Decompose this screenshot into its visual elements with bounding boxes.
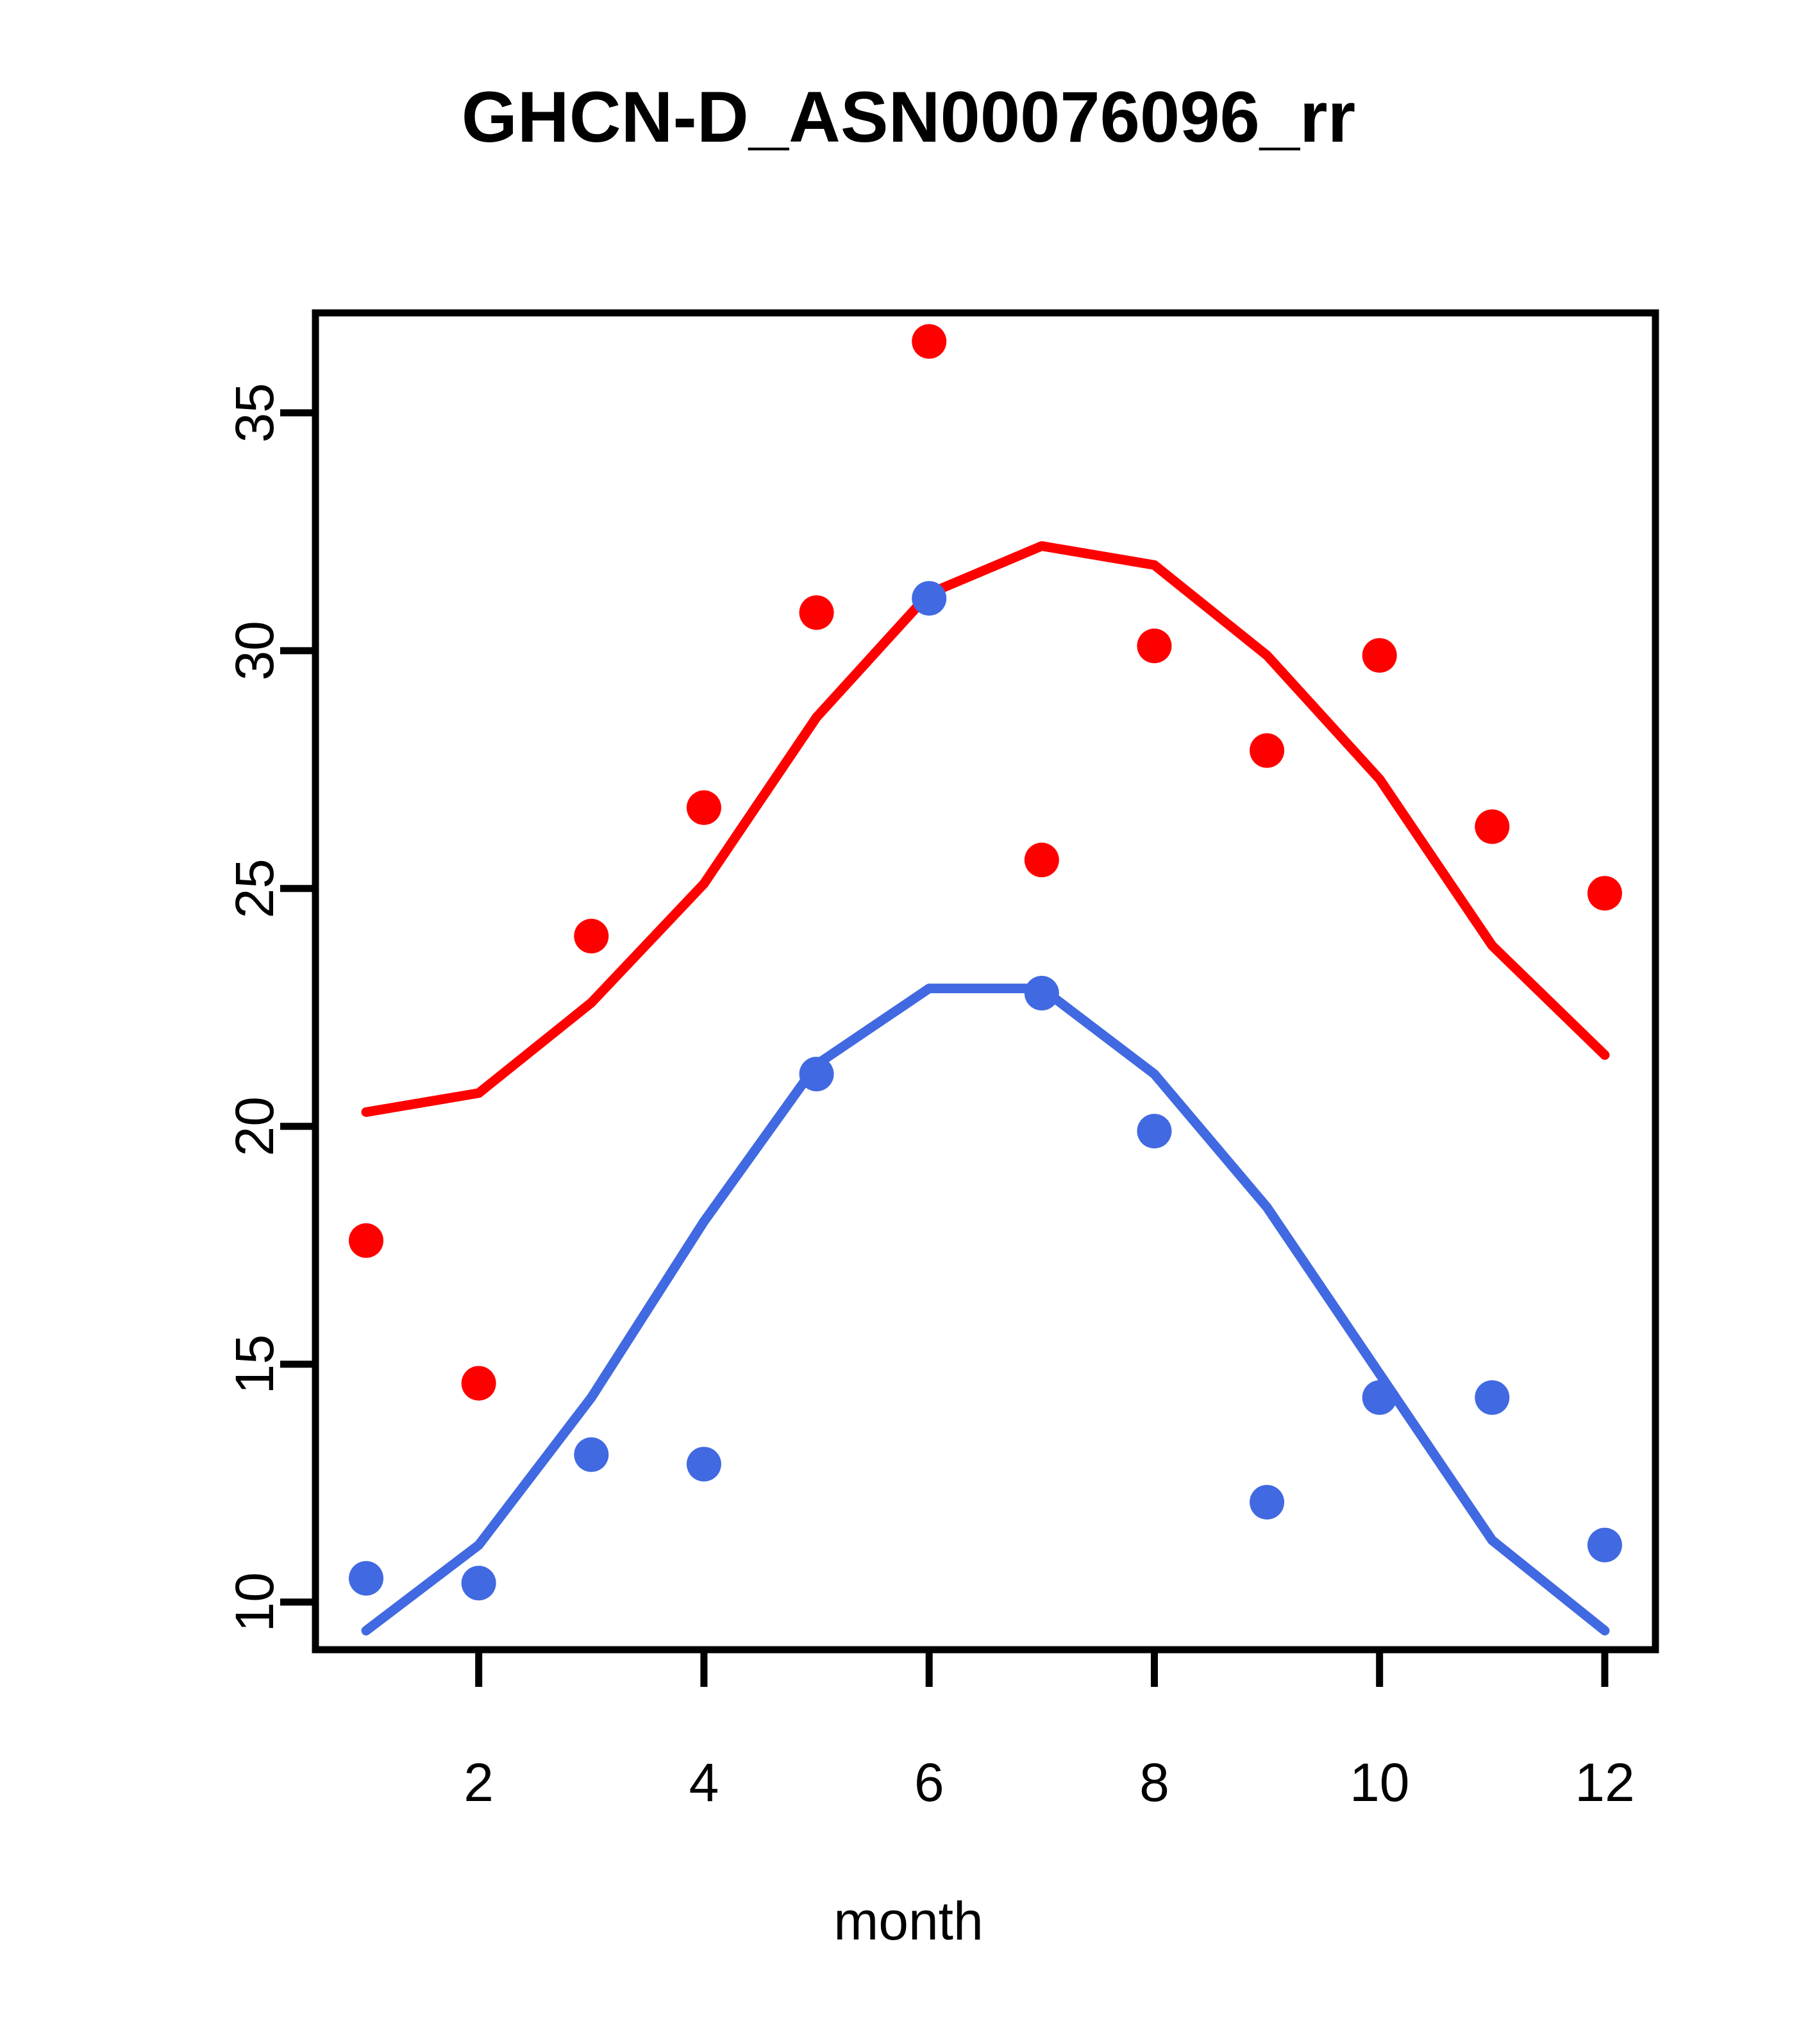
x-axis-ticks: [479, 1650, 1605, 1687]
data-points-group: [349, 324, 1622, 1601]
min-points-marker: [1250, 1485, 1284, 1520]
x-tick-label: 6: [914, 1752, 944, 1813]
y-tick-label: 10: [224, 1572, 285, 1632]
max-points-marker: [1250, 733, 1284, 768]
plot-canvas: 101520253035 24681012: [0, 0, 1817, 2044]
max-points-marker: [1137, 628, 1171, 663]
min-points-marker: [912, 581, 946, 616]
max-points-marker: [349, 1223, 383, 1258]
min-climatology-line: [366, 989, 1605, 1631]
x-tick-label: 2: [464, 1752, 494, 1813]
x-axis-tick-labels: 24681012: [464, 1752, 1634, 1813]
max-points-marker: [912, 324, 946, 359]
min-points-marker: [1587, 1528, 1622, 1562]
min-points-marker: [1137, 1114, 1171, 1148]
x-tick-label: 4: [689, 1752, 719, 1813]
max-points-marker: [687, 791, 721, 825]
y-axis-tick-labels: 101520253035: [224, 383, 285, 1632]
x-tick-label: 12: [1575, 1752, 1634, 1813]
y-tick-label: 15: [224, 1334, 285, 1394]
trend-lines-group: [366, 546, 1605, 1631]
chart-container: GHCN-D_ASN00076096_rr 101520253035 24681…: [0, 0, 1817, 2044]
y-tick-label: 20: [224, 1096, 285, 1156]
min-points-marker: [687, 1447, 721, 1482]
max-points-marker: [462, 1366, 496, 1400]
max-points-marker: [800, 595, 834, 630]
y-axis-ticks: [280, 413, 315, 1602]
x-tick-label: 8: [1139, 1752, 1169, 1813]
x-axis-label: month: [0, 1890, 1817, 1952]
min-points-marker: [1475, 1380, 1509, 1415]
min-points-marker: [800, 1057, 834, 1091]
plot-frame: [315, 313, 1655, 1650]
y-tick-label: 25: [224, 859, 285, 918]
min-points-marker: [462, 1566, 496, 1600]
x-tick-label: 10: [1350, 1752, 1409, 1813]
max-points-marker: [1362, 638, 1397, 673]
min-points-marker: [1362, 1380, 1397, 1415]
min-points-marker: [349, 1561, 383, 1596]
min-points-marker: [574, 1437, 608, 1472]
y-tick-label: 30: [224, 621, 285, 680]
max-points-marker: [1025, 842, 1059, 877]
min-points-marker: [1025, 976, 1059, 1010]
axis-group: 101520253035 24681012: [224, 313, 1655, 1813]
y-tick-label: 35: [224, 383, 285, 442]
max-climatology-line: [366, 546, 1605, 1112]
max-points-marker: [1587, 876, 1622, 910]
max-points-marker: [1475, 809, 1509, 844]
max-points-marker: [574, 919, 608, 953]
